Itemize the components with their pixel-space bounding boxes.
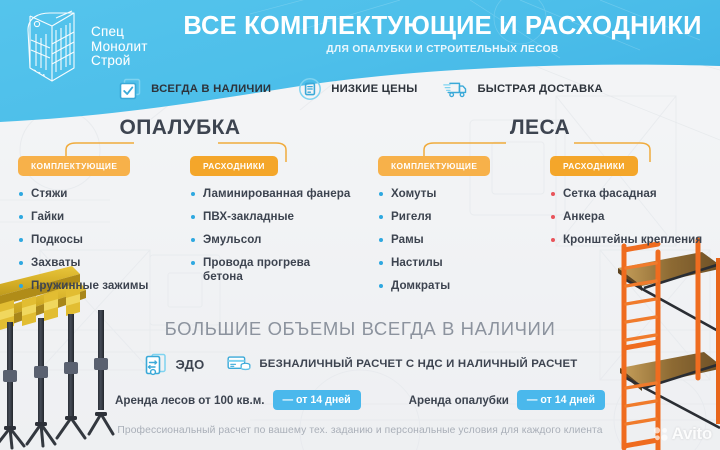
- feature-badges: ВСЕГДА В НАЛИЧИИ НИЗКИЕ ЦЕНЫ БЫСТРАЯ ДОС…: [0, 76, 720, 102]
- rent-formwork: Аренда опалубки — от 14 дней: [409, 390, 605, 410]
- low-price-tag-icon: [297, 76, 323, 102]
- payment-label: ЭДО: [176, 357, 205, 372]
- footer-note: Профессиональный расчет по вашему тех. з…: [0, 425, 720, 436]
- list-item: Провода прогрева бетона: [190, 256, 352, 283]
- column-komplektuyushchie: КОМПЛЕКТУЮЩИЕ Хомуты Ригеля Рамы Настилы…: [360, 156, 540, 302]
- column-badge: КОМПЛЕКТУЮЩИЕ: [18, 156, 130, 176]
- checkbox-stack-icon: [117, 76, 143, 102]
- list-item: Захваты: [18, 256, 172, 270]
- payment-label: БЕЗНАЛИЧНЫЙ РАСЧЕТ С НДС И НАЛИЧНЫЙ РАСЧ…: [259, 358, 577, 370]
- column-raskhodniki: РАСХОДНИКИ Сетка фасадная Анкера Кронште…: [540, 156, 720, 302]
- promo-banner: Спец Монолит Строй ВСЕ КОМПЛЕКТУЮЩИЕ И Р…: [0, 0, 720, 450]
- group-lesa: ЛЕСА КОМПЛЕКТУЮЩИЕ Хомуты Ригеля Рамы На…: [360, 116, 720, 306]
- list-item: Пружинные зажимы: [18, 279, 172, 293]
- rent-term-badge: — от 14 дней: [517, 390, 605, 410]
- feature-label: ВСЕГДА В НАЛИЧИИ: [151, 83, 271, 95]
- list-item: Домкраты: [378, 279, 532, 293]
- logo-text: Спец Монолит Строй: [91, 25, 148, 69]
- list-item: Эмульсол: [190, 233, 352, 247]
- list-item: Анкера: [550, 210, 712, 224]
- product-groups: ОПАЛУБКА КОМПЛЕКТУЮЩИЕ Стяжи Гайки Подко…: [0, 116, 720, 306]
- payment-methods: ЭДО БЕЗНАЛИЧНЫЙ РАСЧЕТ С НДС И НАЛИЧНЫЙ …: [0, 352, 720, 376]
- column-komplektuyushchie: КОМПЛЕКТУЮЩИЕ Стяжи Гайки Подкосы Захват…: [0, 156, 180, 302]
- card-and-coins-icon: [226, 352, 252, 376]
- feature-label: НИЗКИЕ ЦЕНЫ: [331, 83, 417, 95]
- logo-line-2: Монолит: [91, 40, 148, 55]
- list-item: Сетка фасадная: [550, 187, 712, 201]
- header-wave-shape: [0, 0, 720, 125]
- payment-bank-and-cash: БЕЗНАЛИЧНЫЙ РАСЧЕТ С НДС И НАЛИЧНЫЙ РАСЧ…: [226, 352, 577, 376]
- item-list: Сетка фасадная Анкера Кронштейны креплен…: [550, 187, 712, 247]
- rent-term-badge: — от 14 дней: [273, 390, 361, 410]
- list-item: ПВХ-закладные: [190, 210, 352, 224]
- page-title: ВСЕ КОМПЛЕКТУЮЩИЕ И РАСХОДНИКИ: [175, 12, 710, 41]
- column-raskhodniki: РАСХОДНИКИ Ламинированная фанера ПВХ-зак…: [180, 156, 360, 302]
- list-item: Гайки: [18, 210, 172, 224]
- list-item: Стяжи: [18, 187, 172, 201]
- feature-in-stock: ВСЕГДА В НАЛИЧИИ: [117, 76, 271, 102]
- volume-headline: БОЛЬШИЕ ОБЪЕМЫ ВСЕГДА В НАЛИЧИИ: [0, 318, 720, 340]
- group-title: ОПАЛУБКА: [0, 116, 360, 140]
- list-item: Ламинированная фанера: [190, 187, 352, 201]
- list-item: Настилы: [378, 256, 532, 270]
- page-subtitle: ДЛЯ ОПАЛУБКИ И СТРОИТЕЛЬНЫХ ЛЕСОВ: [175, 44, 710, 55]
- logo-line-3: Строй: [91, 54, 148, 69]
- logo-line-1: Спец: [91, 25, 148, 40]
- delivery-truck-icon: [443, 76, 469, 102]
- group-columns: КОМПЛЕКТУЮЩИЕ Стяжи Гайки Подкосы Захват…: [0, 156, 360, 302]
- logo: Спец Монолит Строй: [22, 8, 177, 86]
- rent-label: Аренда опалубки: [409, 394, 509, 407]
- rent-scaffolding: Аренда лесов от 100 кв.м. — от 14 дней: [115, 390, 361, 410]
- column-badge: РАСХОДНИКИ: [190, 156, 278, 176]
- rent-offers: Аренда лесов от 100 кв.м. — от 14 дней А…: [0, 390, 720, 410]
- list-item: Рамы: [378, 233, 532, 247]
- feature-low-prices: НИЗКИЕ ЦЕНЫ: [297, 76, 417, 102]
- header-titles: ВСЕ КОМПЛЕКТУЮЩИЕ И РАСХОДНИКИ ДЛЯ ОПАЛУ…: [175, 12, 710, 55]
- edo-document-exchange-icon: [143, 352, 169, 376]
- list-item: Хомуты: [378, 187, 532, 201]
- group-columns: КОМПЛЕКТУЮЩИЕ Хомуты Ригеля Рамы Настилы…: [360, 156, 720, 302]
- feature-fast-delivery: БЫСТРАЯ ДОСТАВКА: [443, 76, 602, 102]
- list-item: Ригеля: [378, 210, 532, 224]
- group-title: ЛЕСА: [360, 116, 720, 140]
- item-list: Ламинированная фанера ПВХ-закладные Эмул…: [190, 187, 352, 283]
- column-badge: РАСХОДНИКИ: [550, 156, 638, 176]
- feature-label: БЫСТРАЯ ДОСТАВКА: [477, 83, 602, 95]
- payment-edo: ЭДО: [143, 352, 205, 376]
- rent-label: Аренда лесов от 100 кв.м.: [115, 394, 265, 407]
- group-opalubka: ОПАЛУБКА КОМПЛЕКТУЮЩИЕ Стяжи Гайки Подко…: [0, 116, 360, 306]
- column-badge: КОМПЛЕКТУЮЩИЕ: [378, 156, 490, 176]
- item-list: Хомуты Ригеля Рамы Настилы Домкраты: [378, 187, 532, 293]
- item-list: Стяжи Гайки Подкосы Захваты Пружинные за…: [18, 187, 172, 293]
- list-item: Подкосы: [18, 233, 172, 247]
- list-item: Кронштейны крепления: [550, 233, 712, 247]
- building-crane-logo-icon: [22, 10, 84, 84]
